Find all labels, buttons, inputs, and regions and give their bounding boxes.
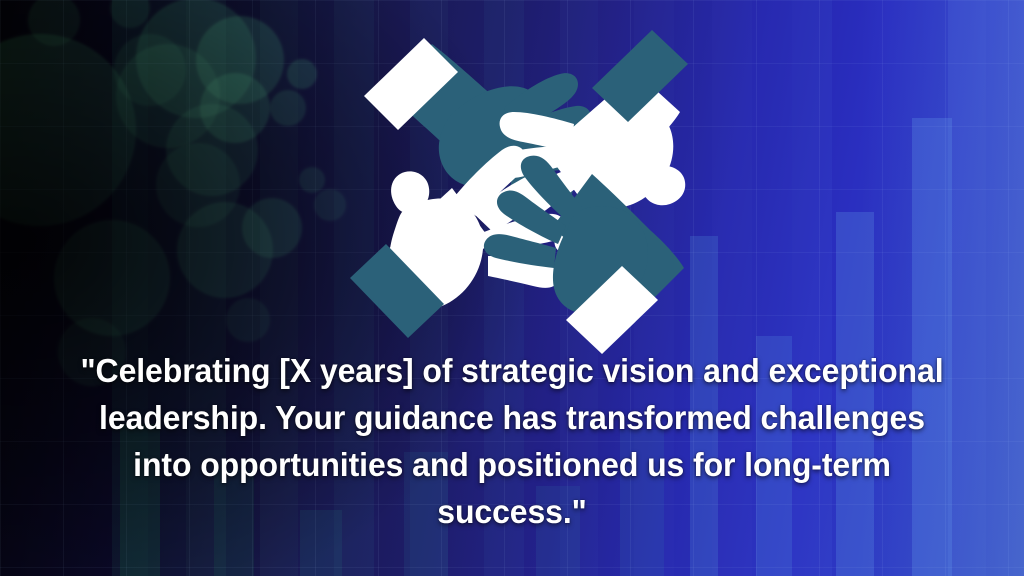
bokeh-circle — [287, 59, 317, 89]
bokeh-circle — [54, 220, 170, 336]
teamwork-hands-illustration — [336, 16, 708, 356]
bokeh-circle — [242, 198, 302, 258]
bokeh-circle — [110, 0, 150, 28]
bokeh-circle — [270, 90, 306, 126]
quote-card-canvas: "Celebrating [X years] of strategic visi… — [0, 0, 1024, 576]
bokeh-circle — [226, 298, 270, 342]
bokeh-circle — [299, 167, 325, 193]
quote-text: "Celebrating [X years] of strategic visi… — [73, 348, 952, 536]
bokeh-circle — [114, 34, 186, 106]
